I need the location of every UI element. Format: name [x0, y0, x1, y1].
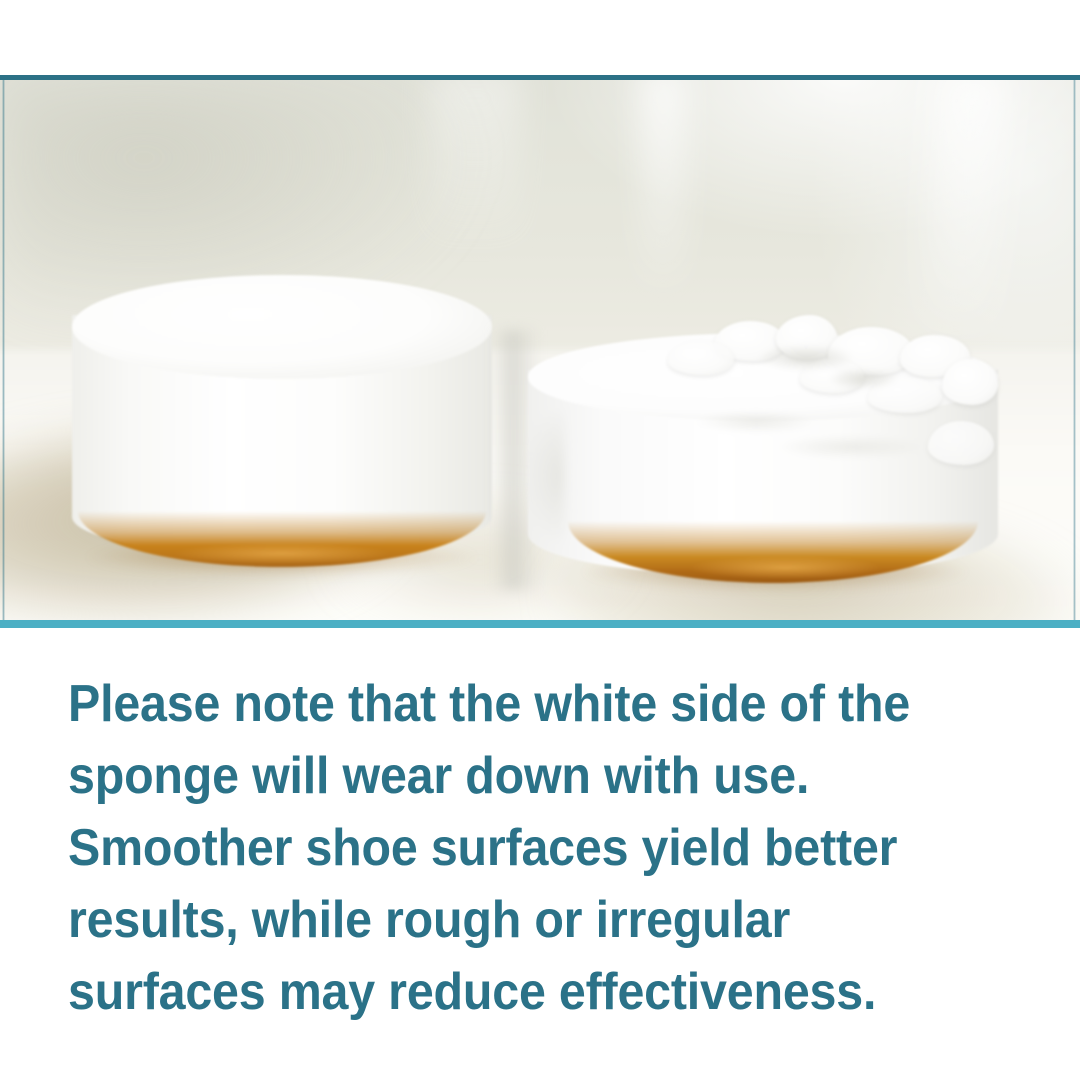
- backdrop-streak: [640, 75, 686, 290]
- left-sponge-base-highlight: [176, 543, 388, 563]
- right-sponge-base-highlight: [691, 556, 880, 580]
- worn-crevice: [828, 369, 898, 389]
- product-info-card: Please note that the white side of the s…: [0, 0, 1080, 1080]
- right-sponge-left-shade: [528, 411, 564, 541]
- worn-crevice: [758, 345, 854, 371]
- worn-crevice: [696, 411, 816, 433]
- worn-tuft: [668, 341, 734, 375]
- caption-text: Please note that the white side of the s…: [68, 668, 961, 1028]
- right-sponge: [528, 325, 998, 615]
- worn-tuft: [942, 359, 998, 405]
- backdrop-streak: [430, 75, 520, 240]
- left-sponge: [72, 275, 492, 585]
- left-sponge-top-face: [72, 275, 492, 379]
- worn-tuft: [928, 421, 994, 465]
- sponge-photo: [0, 75, 1080, 628]
- worn-crevice: [776, 435, 926, 459]
